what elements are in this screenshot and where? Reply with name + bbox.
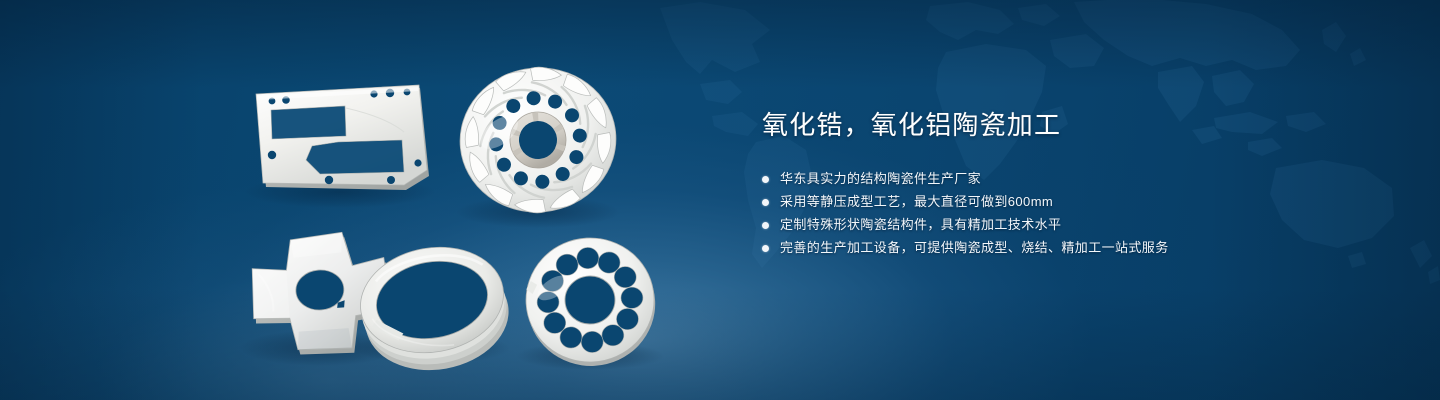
page-title: 氧化锆，氧化铝陶瓷加工 [762, 108, 1362, 142]
list-item: 完善的生产加工设备，可提供陶瓷成型、烧结、精加工一站式服务 [762, 237, 1362, 259]
hero-banner: 氧化锆，氧化铝陶瓷加工 华东具实力的结构陶瓷件生产厂家 采用等静压成型工艺，最大… [0, 0, 1440, 400]
list-item: 定制特殊形状陶瓷结构件，具有精加工技术水平 [762, 214, 1362, 236]
bullet-dot-icon [762, 245, 769, 252]
feature-list: 华东具实力的结构陶瓷件生产厂家 采用等静压成型工艺，最大直径可做到600mm 定… [762, 168, 1362, 259]
feature-text: 完善的生产加工设备，可提供陶瓷成型、烧结、精加工一站式服务 [780, 237, 1169, 259]
feature-text: 华东具实力的结构陶瓷件生产厂家 [780, 168, 981, 190]
banner-copy: 氧化锆，氧化铝陶瓷加工 华东具实力的结构陶瓷件生产厂家 采用等静压成型工艺，最大… [762, 108, 1362, 260]
list-item: 采用等静压成型工艺，最大直径可做到600mm [762, 191, 1362, 213]
bullet-dot-icon [762, 199, 769, 206]
list-item: 华东具实力的结构陶瓷件生产厂家 [762, 168, 1362, 190]
bullet-dot-icon [762, 176, 769, 183]
feature-text: 定制特殊形状陶瓷结构件，具有精加工技术水平 [780, 214, 1061, 236]
bullet-dot-icon [762, 222, 769, 229]
product-images [0, 0, 720, 400]
feature-text: 采用等静压成型工艺，最大直径可做到600mm [780, 191, 1053, 213]
